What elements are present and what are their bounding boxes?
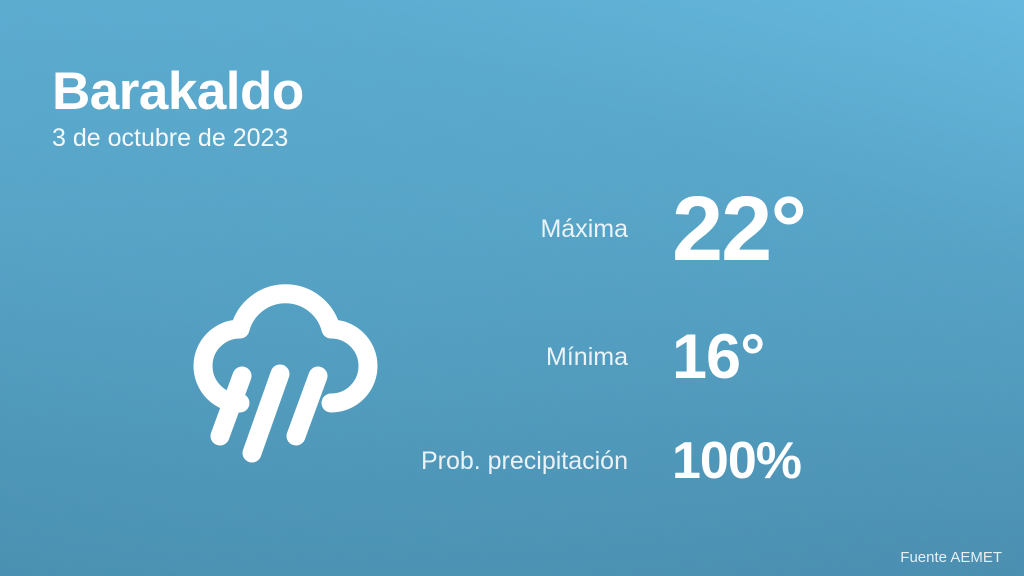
metric-label-precipitacion: Prob. precipitación — [400, 447, 672, 476]
rain-cloud-icon — [170, 248, 400, 478]
metric-row-precipitacion: Prob. precipitación 100% — [400, 426, 960, 496]
metric-value-minima: 16° — [672, 326, 764, 389]
metric-value-maxima: 22° — [672, 183, 805, 275]
metric-value-precipitacion: 100% — [672, 435, 801, 487]
header: Barakaldo 3 de octubre de 2023 — [52, 64, 304, 153]
source-attribution: Fuente AEMET — [900, 549, 1002, 566]
metric-label-maxima: Máxima — [400, 215, 672, 244]
forecast-date: 3 de octubre de 2023 — [52, 125, 304, 153]
metric-label-minima: Mínima — [400, 343, 672, 372]
page-title: Barakaldo — [52, 64, 304, 119]
metric-row-maxima: Máxima 22° — [400, 170, 960, 288]
metric-row-minima: Mínima 16° — [400, 288, 960, 426]
weather-card: Barakaldo 3 de octubre de 2023 Máxima 22… — [0, 0, 1024, 576]
metrics-list: Máxima 22° Mínima 16° Prob. precipitació… — [400, 170, 960, 496]
